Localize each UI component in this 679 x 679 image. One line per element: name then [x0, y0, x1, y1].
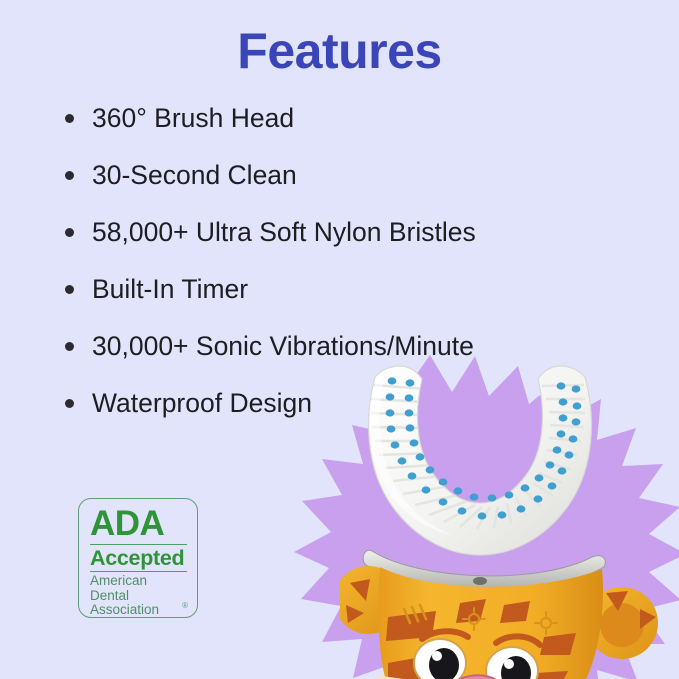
list-item: Built-In Timer — [57, 271, 657, 328]
list-item: 30,000+ Sonic Vibrations/Minute — [57, 328, 657, 385]
list-item: 30-Second Clean — [57, 157, 657, 214]
list-item: 360° Brush Head — [57, 100, 657, 157]
list-item: 58,000+ Ultra Soft Nylon Bristles — [57, 214, 657, 271]
list-item: Waterproof Design — [57, 385, 657, 442]
ada-acronym: ADA — [90, 506, 164, 541]
feature-label: Built-In Timer — [92, 274, 248, 304]
bullet-icon — [65, 228, 74, 237]
page-title: Features — [0, 21, 679, 81]
feature-label: 30,000+ Sonic Vibrations/Minute — [92, 331, 474, 361]
product-feature-card: Features 360° Brush Head 30-Second Clean… — [0, 0, 679, 679]
tiger-eye-left — [414, 639, 466, 679]
feature-label: 30-Second Clean — [92, 160, 297, 190]
registered-trademark-icon: ® — [182, 601, 188, 610]
bullet-icon — [65, 399, 74, 408]
feature-label: 58,000+ Ultra Soft Nylon Bristles — [92, 217, 476, 247]
bullet-icon — [65, 171, 74, 180]
ada-org-line-2: Dental — [90, 589, 159, 604]
bullet-icon — [65, 114, 74, 123]
ada-org-line-1: American — [90, 574, 159, 589]
ada-accepted-seal: ADA Accepted American Dental Association… — [78, 498, 198, 618]
ada-org-line-3: Association — [90, 603, 159, 618]
ada-organization-name: American Dental Association — [90, 574, 159, 618]
feature-label: Waterproof Design — [92, 388, 312, 418]
bullet-icon — [65, 342, 74, 351]
bullet-icon — [65, 285, 74, 294]
feature-list: 360° Brush Head 30-Second Clean 58,000+ … — [57, 100, 657, 442]
ada-accepted-label: Accepted — [90, 546, 184, 570]
feature-label: 360° Brush Head — [92, 103, 294, 133]
